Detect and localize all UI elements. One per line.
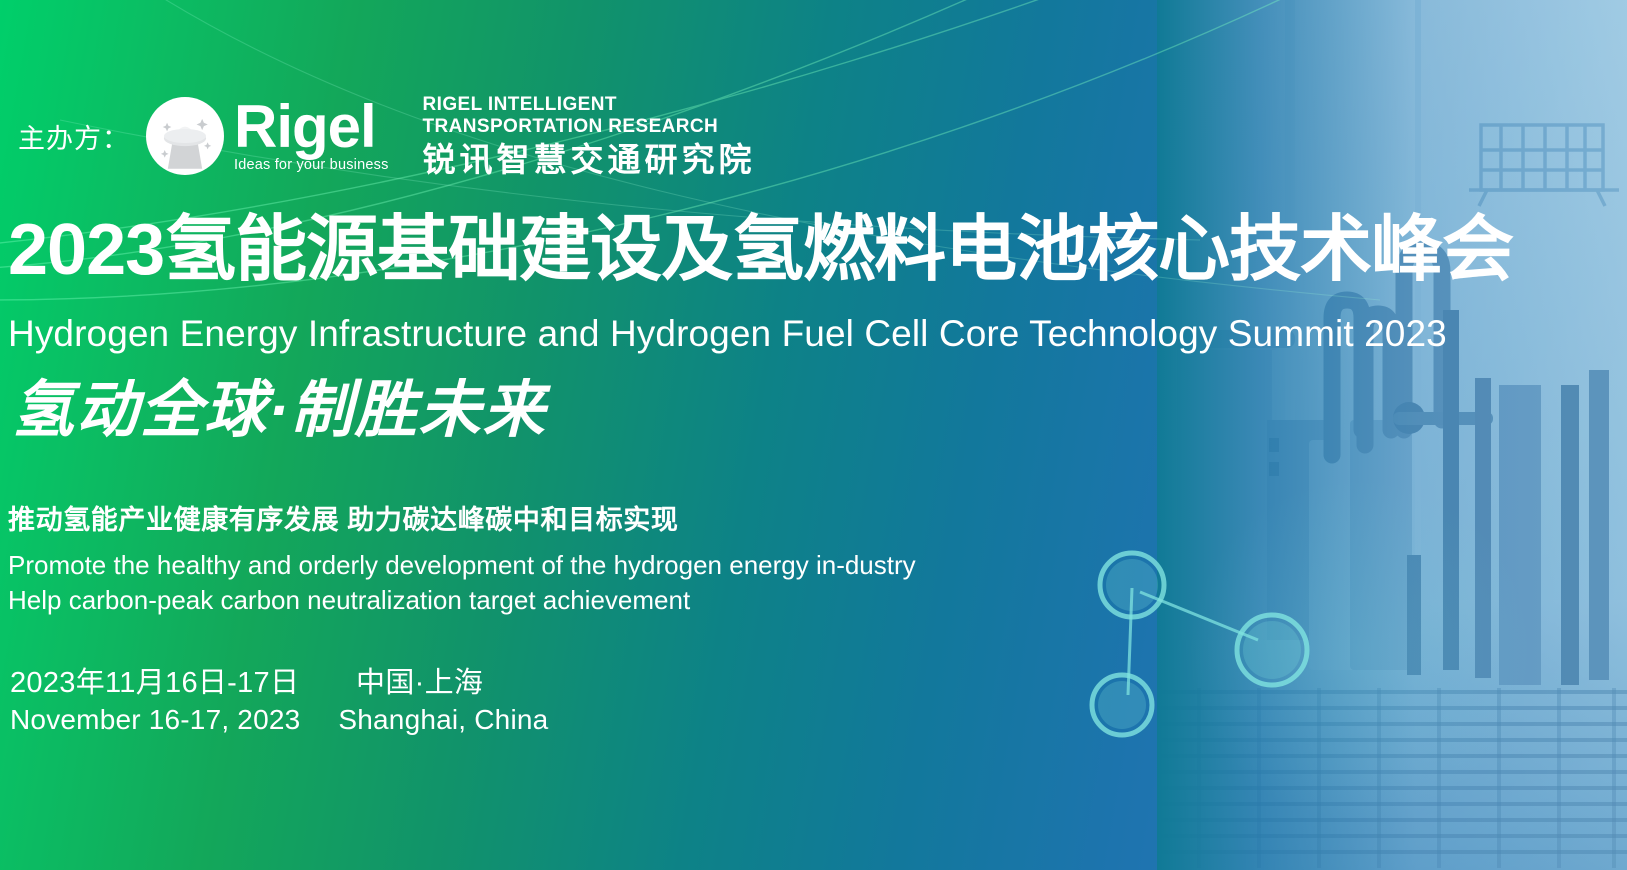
tagline-en: Promote the healthy and orderly developm… — [8, 548, 968, 618]
organization-names: RIGEL INTELLIGENT TRANSPORTATION RESEARC… — [423, 94, 756, 178]
tagline-cn: 推动氢能产业健康有序发展 助力碳达峰碳中和目标实现 — [8, 498, 679, 537]
event-meta-cn: 2023年11月16日-17日 中国·上海 — [10, 659, 483, 701]
org-name-en-line1: RIGEL INTELLIGENT — [423, 94, 756, 116]
organizer-row: 主办方： Rigel Ideas for your business RIGEL — [18, 86, 756, 186]
organizer-label: 主办方： — [18, 117, 130, 156]
ufo-saucer-icon — [146, 97, 224, 175]
slogan-cn: 氢动全球·制胜未来 — [12, 375, 547, 446]
event-location-en: Shanghai, China — [338, 704, 548, 735]
event-meta-en: November 16-17, 2023 Shanghai, China — [10, 704, 548, 736]
page-title-en: Hydrogen Energy Infrastructure and Hydro… — [8, 313, 1447, 356]
org-name-cn: 锐讯智慧交通研究院 — [423, 142, 756, 178]
event-date-en: November 16-17, 2023 — [10, 704, 300, 735]
conference-banner: 主办方： Rigel Ideas for your business RIGEL — [0, 0, 1627, 870]
event-date-cn: 2023年11月16日-17日 — [10, 667, 299, 699]
event-location-cn: 中国·上海 — [356, 667, 483, 699]
rigel-name: Rigel — [234, 99, 389, 155]
rigel-tagline: Ideas for your business — [234, 157, 389, 173]
org-name-en-line2: TRANSPORTATION RESEARCH — [423, 116, 756, 138]
page-title-cn: 2023氢能源基础建设及氢燃料电池核心技术峰会 — [8, 212, 1513, 288]
rigel-logo-wordmark: Rigel Ideas for your business — [234, 99, 389, 173]
hydrogen-molecule-icon — [1060, 530, 1360, 760]
